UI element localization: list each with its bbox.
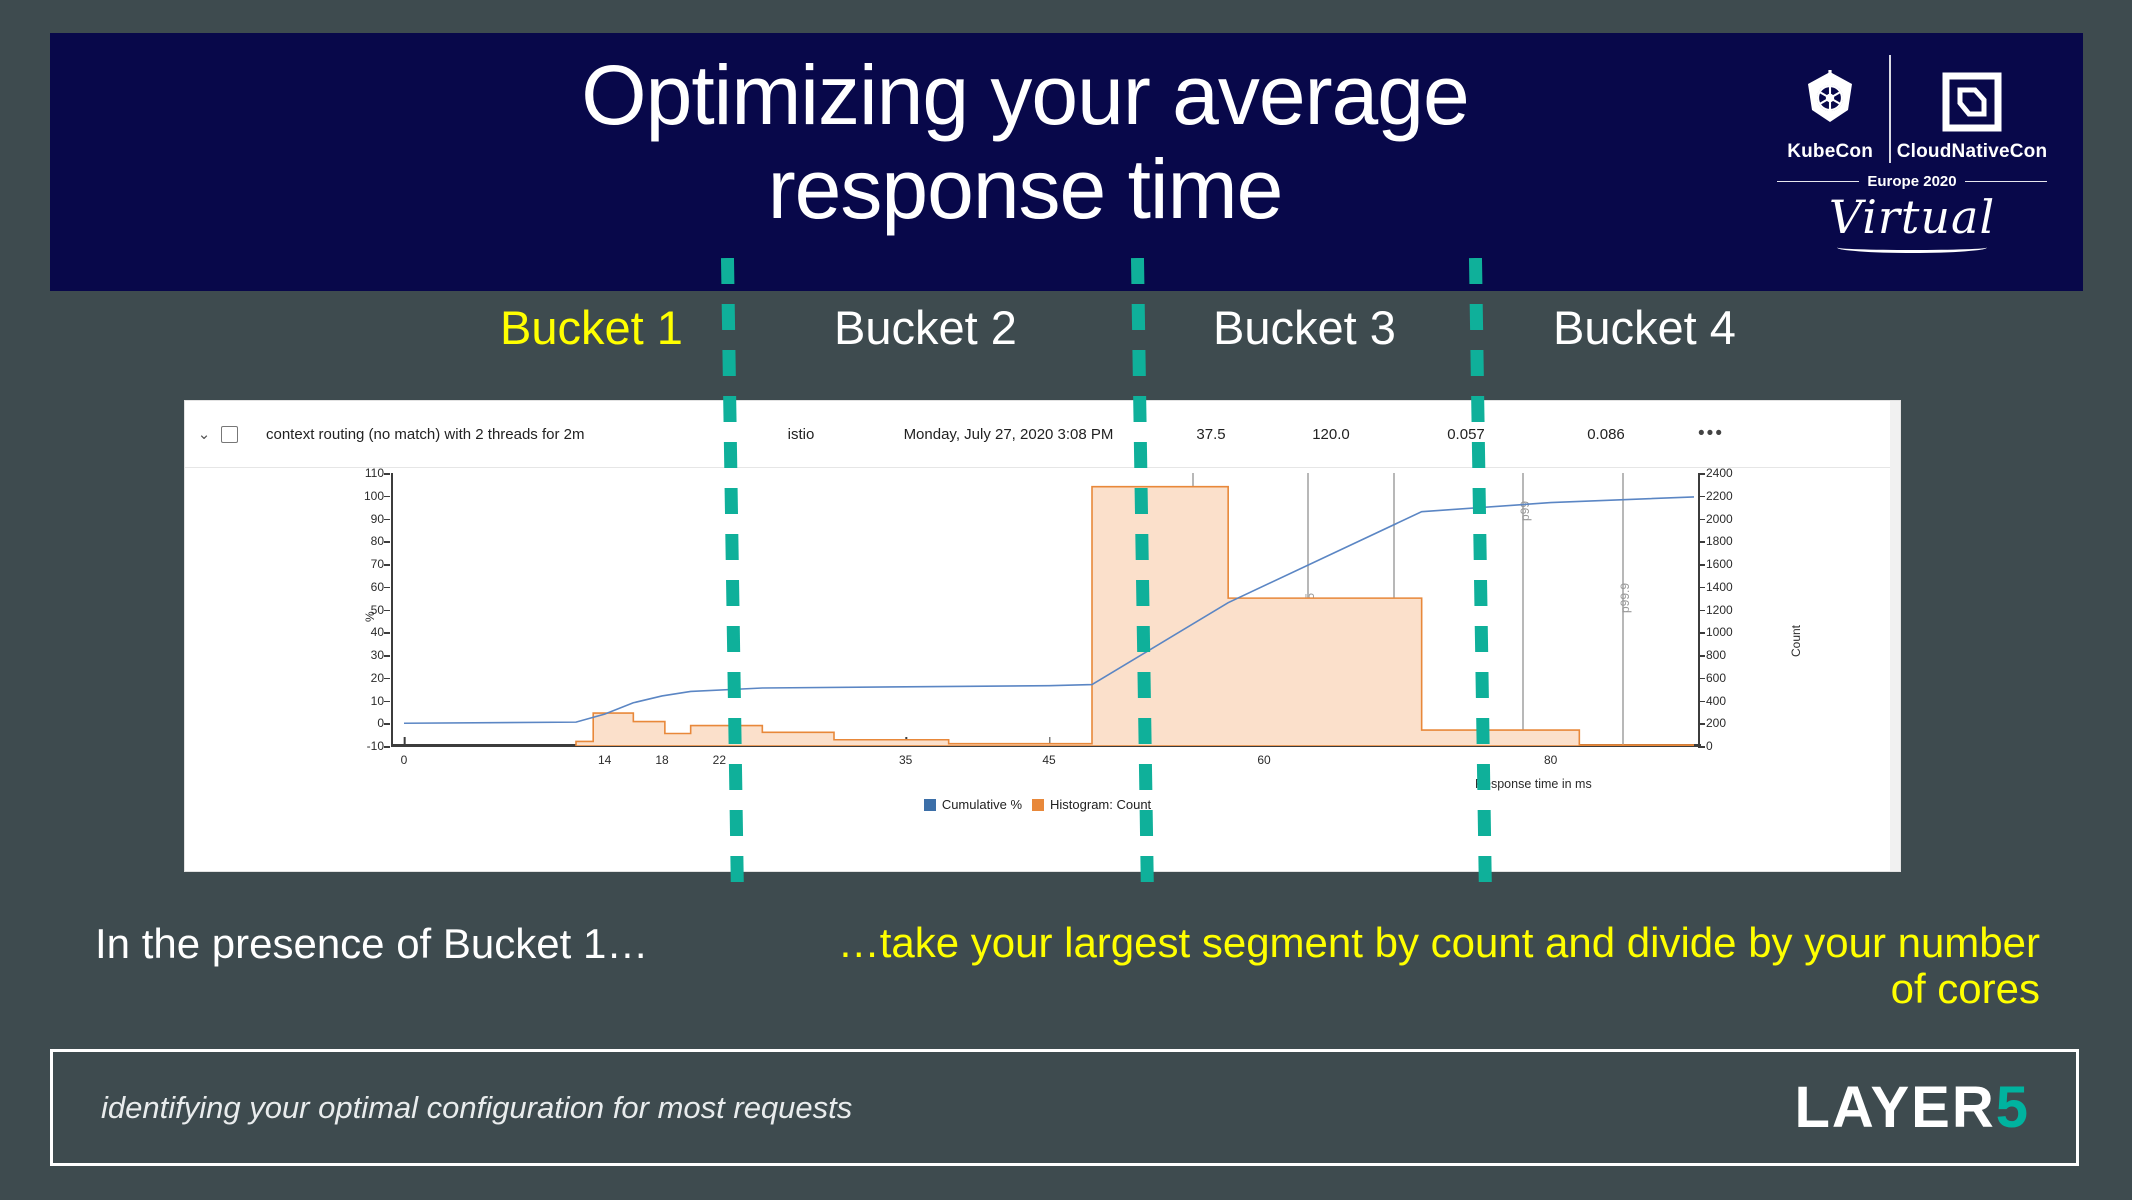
y-tick-left: 60 xyxy=(344,580,384,594)
footer-tagline: identifying your optimal configuration f… xyxy=(101,1090,852,1126)
y-tick-left: 90 xyxy=(344,512,384,526)
y-tick-left: 100 xyxy=(344,489,384,503)
row-checkbox[interactable] xyxy=(221,426,238,443)
result-row-header[interactable]: ⌄ context routing (no match) with 2 thre… xyxy=(185,401,1890,468)
y-tick-left: 70 xyxy=(344,557,384,571)
latency-histogram-chart: % Count 1101009080706050403020100-10 240… xyxy=(185,467,1890,871)
caption-left: In the presence of Bucket 1… xyxy=(95,920,648,968)
y-tick-right: 1400 xyxy=(1706,580,1756,594)
panel-scrollbar[interactable] xyxy=(1890,401,1900,871)
y-tick-left: 40 xyxy=(344,625,384,639)
layer5-logo: LAYER 5 xyxy=(1794,1079,2028,1137)
legend-item-cumulative: Cumulative % xyxy=(924,797,1022,812)
y-tick-right: 800 xyxy=(1706,648,1756,662)
title-line-1: Optimizing your average xyxy=(581,48,1468,142)
y-tick-right: 1000 xyxy=(1706,625,1756,639)
plot-svg xyxy=(404,473,1694,746)
title-bar: Optimizing your average response time xyxy=(50,33,2083,291)
chevron-down-icon[interactable]: ⌄ xyxy=(191,425,217,443)
y-tick-right: 2000 xyxy=(1706,512,1756,526)
y-tick-right: 2200 xyxy=(1706,489,1756,503)
y-tick-right: 1200 xyxy=(1706,603,1756,617)
y-tick-left: 30 xyxy=(344,648,384,662)
bucket-label-1: Bucket 1 xyxy=(500,300,683,355)
y-tick-right: 2400 xyxy=(1706,466,1756,480)
chart-legend: Cumulative % Histogram: Count xyxy=(185,797,1890,812)
x-tick: 0 xyxy=(401,747,408,767)
y-tick-right: 1600 xyxy=(1706,557,1756,571)
title-line-2: response time xyxy=(350,147,1700,231)
bucket-label-row: Bucket 1 Bucket 2 Bucket 3 Bucket 4 xyxy=(0,300,2132,386)
y-tick-left: 0 xyxy=(344,716,384,730)
y-tick-left: -10 xyxy=(344,739,384,753)
y-tick-left: 10 xyxy=(344,694,384,708)
x-tick: 14 xyxy=(598,747,611,767)
x-tick: 60 xyxy=(1257,747,1270,767)
x-tick: 80 xyxy=(1544,747,1557,767)
y-tick-left: 110 xyxy=(344,466,384,480)
y-axis-left xyxy=(391,473,393,746)
legend-label-cumulative: Cumulative % xyxy=(942,797,1022,812)
x-tick: 45 xyxy=(1042,747,1055,767)
bucket-label-3: Bucket 3 xyxy=(1213,300,1396,355)
benchmark-result-panel: ⌄ context routing (no match) with 2 thre… xyxy=(185,401,1900,871)
plot-area xyxy=(404,473,1694,746)
y-tick-left: 50 xyxy=(344,603,384,617)
legend-swatch-cumulative xyxy=(924,799,936,811)
layer5-wordmark: LAYER xyxy=(1794,1079,1995,1137)
footer-bar: identifying your optimal configuration f… xyxy=(50,1049,2079,1166)
legend-item-histogram: Histogram: Count xyxy=(1032,797,1151,812)
result-value-4: 0.086 xyxy=(1541,426,1671,443)
cncf-square-icon xyxy=(1942,72,2002,137)
slide-root: Optimizing your average response time xyxy=(0,0,2132,1200)
result-title: context routing (no match) with 2 thread… xyxy=(266,426,736,443)
kubernetes-helm-icon xyxy=(1798,68,1862,137)
cloudnativecon-wordmark: CloudNativeCon xyxy=(1897,141,2048,163)
bucket-label-4: Bucket 4 xyxy=(1553,300,1736,355)
legend-swatch-histogram xyxy=(1032,799,1044,811)
y-tick-right: 0 xyxy=(1706,739,1756,753)
result-value-3: 0.057 xyxy=(1391,426,1541,443)
x-tick: 35 xyxy=(899,747,912,767)
result-value-2: 120.0 xyxy=(1271,426,1391,443)
cumulative-line xyxy=(404,497,1694,723)
y-axis-right-label: Count xyxy=(1789,625,1803,657)
y-tick-right: 1800 xyxy=(1706,534,1756,548)
y-tick-right: 400 xyxy=(1706,694,1756,708)
x-tick: 22 xyxy=(713,747,726,767)
y-tick-left: 80 xyxy=(344,534,384,548)
page-title: Optimizing your average response time xyxy=(350,53,1700,231)
result-value-1: 37.5 xyxy=(1151,426,1271,443)
caption-right: …take your largest segment by count and … xyxy=(800,920,2040,1012)
kubecon-wordmark: KubeCon xyxy=(1787,141,1873,163)
conference-mode: Virtual xyxy=(1777,194,2047,240)
logo-rule-right xyxy=(1965,181,2047,182)
x-tick: 18 xyxy=(655,747,668,767)
x-axis-label: Response time in ms xyxy=(1475,777,1592,791)
legend-label-histogram: Histogram: Count xyxy=(1050,797,1151,812)
bucket-label-2: Bucket 2 xyxy=(834,300,1017,355)
result-mesh: istio xyxy=(736,426,866,443)
conference-edition: Europe 2020 xyxy=(1867,173,1956,190)
y-tick-right: 600 xyxy=(1706,671,1756,685)
y-tick-right: 200 xyxy=(1706,716,1756,730)
logo-rule-left xyxy=(1777,181,1859,182)
result-timestamp: Monday, July 27, 2020 3:08 PM xyxy=(866,426,1151,443)
kubecon-cloudnativecon-logo: KubeCon CloudNativeCon Europe 2020 xyxy=(1777,55,2047,275)
layer5-digit: 5 xyxy=(1996,1079,2028,1137)
overflow-menu-icon[interactable]: ••• xyxy=(1671,423,1751,445)
logo-divider xyxy=(1889,55,1891,163)
y-tick-left: 20 xyxy=(344,671,384,685)
